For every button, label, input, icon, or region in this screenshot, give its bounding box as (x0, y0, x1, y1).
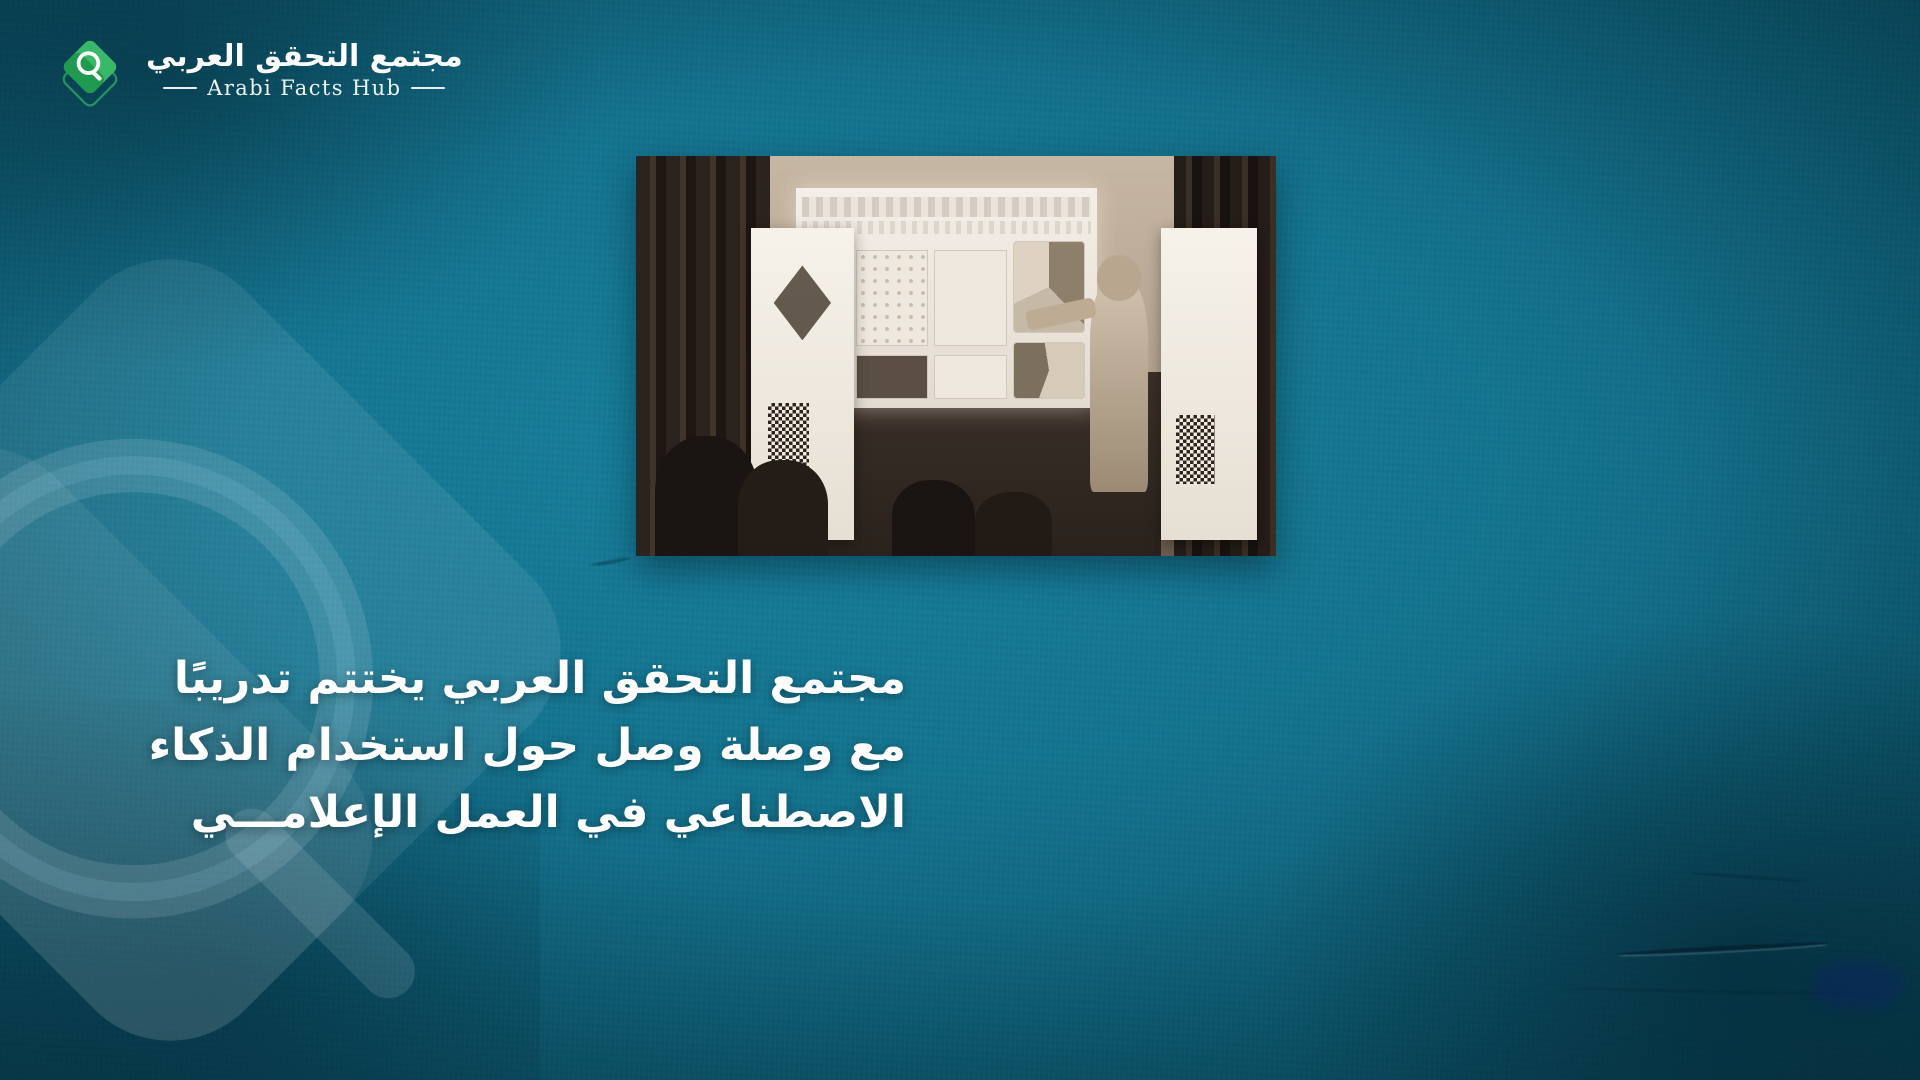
photo-presentation-screen (636, 156, 1276, 556)
brand-rule-left (163, 87, 197, 89)
brand-name-english-row: Arabi Facts Hub (163, 76, 445, 100)
brand-name-english: Arabi Facts Hub (207, 76, 401, 100)
headline-line-3: الاصطناعي في العمل الإعلامـــي (56, 780, 906, 847)
brand-name-arabic: مجتمع التحقق العربي (146, 40, 463, 74)
rollup-banner-right (1161, 228, 1257, 540)
headline-line-2: مع وصلة وصل حول استخدام الذكاء (56, 713, 906, 780)
photo-presentation-scene (636, 156, 1276, 556)
brand-lockup: مجتمع التحقق العربي Arabi Facts Hub (52, 32, 463, 108)
wall-stain (1812, 962, 1902, 1008)
arabi-facts-hub-logo-icon (52, 32, 128, 108)
brand-rule-right (411, 87, 445, 89)
brand-text: مجتمع التحقق العربي Arabi Facts Hub (146, 40, 463, 100)
social-card-canvas: مجتمع التحقق العربي Arabi Facts Hub (0, 0, 1920, 1080)
headline-line-1: مجتمع التحقق العربي يختتم تدريبًا (56, 646, 906, 713)
headline: مجتمع التحقق العربي يختتم تدريبًا مع وصل… (56, 646, 906, 847)
presenter-figure (1090, 284, 1148, 492)
